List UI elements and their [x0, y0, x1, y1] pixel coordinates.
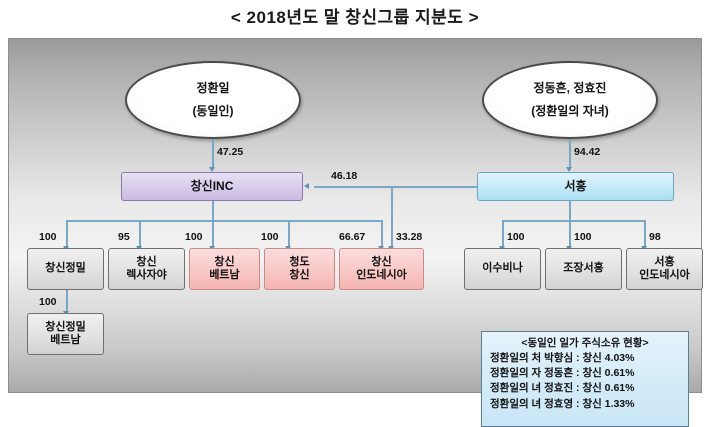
legend-line: 정환일의 녀 정효영 : 창신 1.33%	[486, 397, 684, 412]
connector-drop-cheongdo	[288, 220, 290, 248]
shareholder-note: (동일인)	[192, 100, 233, 123]
percent-hwanil-to-changshin: 47.25	[217, 146, 243, 158]
company-node-changshin-lexajaya: 창신 렉사자야	[108, 248, 185, 290]
arrow-seoheung-to-changshin	[304, 183, 309, 189]
connector-jeongmil-to-vietnam	[66, 290, 68, 313]
company-node-cheongdo-changshin: 청도 창신	[264, 248, 335, 290]
connector-drop-seoheung-indonesia	[644, 220, 646, 248]
company-node-jojang-seoheung: 조장서흥	[545, 248, 622, 290]
company-label: 창신정밀 베트남	[45, 321, 85, 348]
company-label: 서흥	[564, 179, 586, 194]
percent-changshin-to-cheongdo: 100	[261, 231, 279, 243]
company-node-changshin-indonesia: 창신 인도네시아	[339, 248, 424, 290]
company-label: 청도 창신	[289, 256, 309, 283]
company-label: 창신정밀	[45, 262, 85, 275]
connector-changshin-bus	[66, 220, 382, 222]
shareholder-name: 정환일	[196, 77, 229, 100]
connector-seoheung-to-indonesia-v	[391, 186, 393, 248]
percent-changshin-to-jeongmil: 100	[39, 231, 57, 243]
connector-seoheung-bus	[502, 220, 646, 222]
company-label: 창신 인도네시아	[356, 256, 407, 283]
legend-line: 정환일의 처 박향심 : 창신 4.03%	[486, 351, 684, 366]
connector-drop-jeongmil	[66, 220, 68, 248]
connector-hwanil-to-changshin	[212, 139, 214, 169]
percent-jeongmil-to-vietnam: 100	[39, 296, 57, 308]
company-node-changshin-inc: 창신INC	[121, 172, 303, 201]
legend-line: 정환일의 녀 정효진 : 창신 0.61%	[486, 381, 684, 396]
percent-seoheung-to-isuvina: 100	[507, 231, 525, 243]
connector-drop-isuvina	[502, 220, 504, 248]
company-node-seoheung: 서흥	[477, 172, 674, 201]
company-label: 조장서흥	[563, 262, 603, 275]
percent-changshin-to-lexajaya: 95	[118, 231, 130, 243]
connector-drop-indonesia	[381, 220, 383, 248]
page-title: < 2018년도 말 창신그룹 지분도 >	[0, 0, 710, 36]
percent-changshin-to-vietnam: 100	[185, 231, 203, 243]
company-label: 창신 렉사자야	[126, 256, 166, 283]
company-node-changshin-jeongmil: 창신정밀	[27, 248, 104, 290]
company-label: 창신 베트남	[209, 256, 239, 283]
company-node-changshin-jeongmil-vietnam: 창신정밀 베트남	[27, 313, 104, 355]
ownership-diagram: 정환일 (동일인) 정동흔, 정효진 (정환일의 자녀) 47.25 94.42…	[8, 38, 702, 393]
legend-line: 정환일의 자 정동흔 : 창신 0.61%	[486, 366, 684, 381]
connector-seoheung-to-changshin-h	[314, 186, 477, 188]
percent-children-to-seoheung: 94.42	[574, 146, 600, 158]
percent-seoheung-to-seoheung-indonesia: 98	[649, 231, 661, 243]
shareholder-note: (정환일의 자녀)	[531, 100, 609, 123]
company-node-changshin-vietnam: 창신 베트남	[189, 248, 260, 290]
shareholder-name: 정동흔, 정효진	[534, 77, 607, 100]
company-node-seoheung-indonesia: 서흥 인도네시아	[626, 248, 703, 290]
connector-drop-jojang	[569, 220, 571, 248]
percent-seoheung-to-indonesia: 33.28	[396, 231, 422, 243]
legend-title: <동일인 일가 주식소유 현황>	[486, 335, 684, 350]
shareholder-node-jeong-hwan-il: 정환일 (동일인)	[125, 61, 301, 139]
company-label: 창신INC	[191, 179, 234, 194]
company-node-isuvina: 이수비나	[464, 248, 541, 290]
connector-children-to-seoheung	[569, 139, 571, 169]
percent-seoheung-to-changshin: 46.18	[331, 170, 357, 182]
legend-panel: <동일인 일가 주식소유 현황> 정환일의 처 박향심 : 창신 4.03% 정…	[481, 331, 689, 427]
connector-drop-lexajaya	[139, 220, 141, 248]
percent-seoheung-to-jojang: 100	[574, 231, 592, 243]
shareholder-node-children: 정동흔, 정효진 (정환일의 자녀)	[482, 61, 658, 139]
percent-changshin-to-indonesia: 66.67	[339, 231, 365, 243]
connector-drop-vietnam	[212, 220, 214, 248]
company-label: 서흥 인도네시아	[639, 256, 690, 283]
company-label: 이수비나	[482, 262, 522, 275]
